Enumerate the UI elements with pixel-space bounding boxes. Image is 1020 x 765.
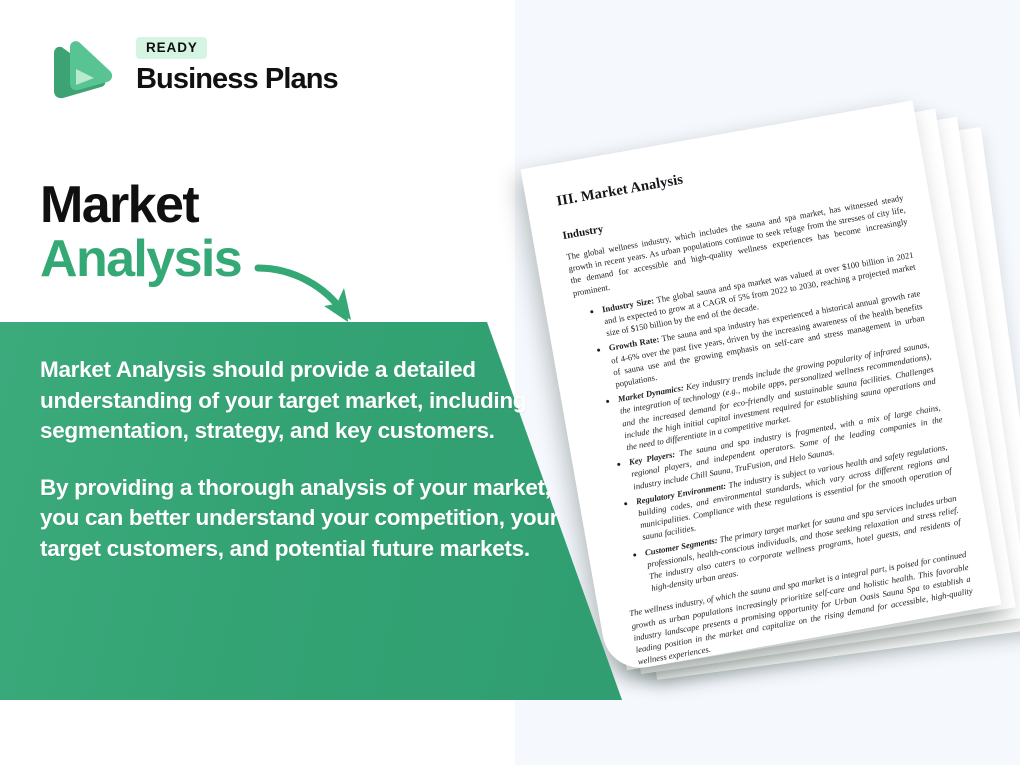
ready-badge: READY [136,37,207,59]
document-bullet-list: Industry Size: The global sauna and spa … [575,248,963,599]
page-title: Market Analysis [40,178,241,286]
green-panel-copy: Market Analysis should provide a detaile… [40,355,560,565]
play-triangle-logo-icon [40,35,116,111]
brand-name: Business Plans [136,64,338,95]
brand-logo[interactable]: READY Business Plans [40,33,340,117]
document-title: III. Market Analysis [555,134,895,210]
brand-text-block: READY Business Plans [136,37,338,94]
headline-line-1: Market [40,178,241,232]
poster-canvas: growthent.21 andsizerate ofs ofunas,ons)… [0,0,1020,765]
headline-line-2: Analysis [40,232,241,286]
green-paragraph-2: By providing a thorough analysis of your… [40,473,560,565]
green-paragraph-1: Market Analysis should provide a detaile… [40,355,560,447]
curved-arrow-down-right-icon [252,252,392,342]
